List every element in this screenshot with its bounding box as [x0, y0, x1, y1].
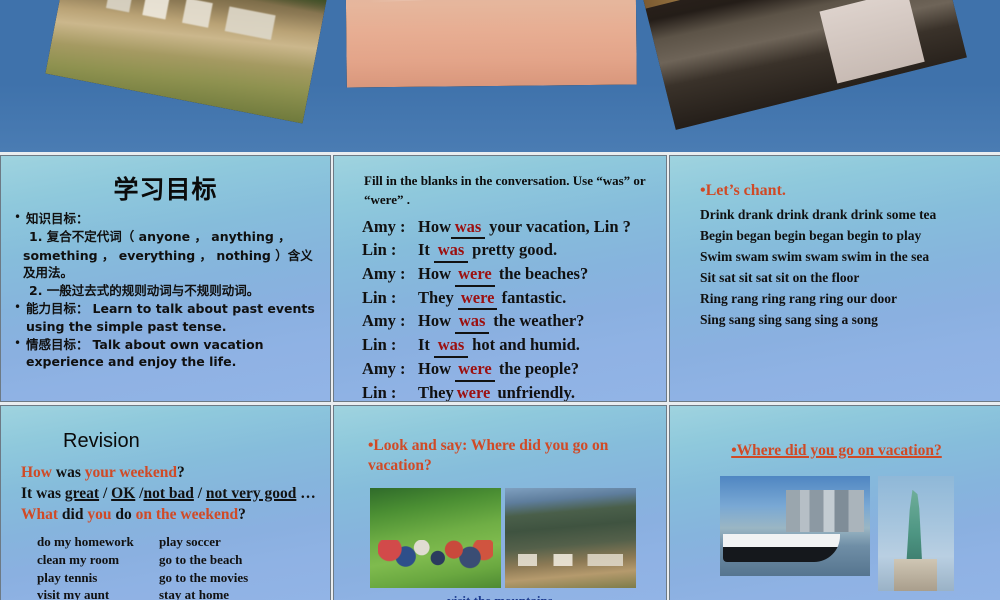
page-title: •Let’s chant.	[700, 182, 991, 200]
museum-interior-photo	[637, 0, 967, 130]
page-title: 学习目标	[13, 170, 318, 206]
chant-line: Swim swam swim swam swim in the sea	[700, 247, 991, 268]
q1-word-how: How	[21, 464, 52, 481]
speaker-label: Amy :	[362, 216, 418, 238]
conversation-list: Amy :Howwas your vacation, Lin ? Lin :It…	[362, 216, 654, 402]
answer-blank[interactable]: was	[451, 216, 485, 240]
q2-option: not bad	[143, 485, 193, 502]
activity-column-right: play soccer go to the beach go to the mo…	[159, 533, 248, 600]
slide-revision[interactable]: Revision How was your weekend? It was gr…	[0, 405, 331, 600]
page-title: •Look and say: Where did you go on vacat…	[368, 436, 654, 476]
page-title: •Where did you go on vacation?	[682, 442, 991, 460]
slide-thumbnail-sheet: 学习目标 知识目标： 1. 复合不定代词（ anyone ， anything …	[0, 0, 1000, 600]
q2-option: great	[65, 485, 99, 502]
conversation-line: Lin :They were fantastic.	[362, 287, 654, 311]
speaker-label: Lin :	[362, 287, 418, 309]
q3-word-on-the-weekend: on the weekend	[136, 506, 238, 523]
revision-prompts: How was your weekend? It was great / OK …	[21, 463, 318, 525]
list-item: go to the movies	[159, 569, 248, 587]
q3-word-do: do	[111, 506, 135, 523]
mountain-village-photo	[505, 488, 636, 588]
line-before: How	[418, 217, 451, 236]
answer-blank[interactable]: was	[455, 310, 489, 334]
chant-line: Drink drank drink drank drink some tea	[700, 205, 991, 226]
line-after: pretty good.	[472, 240, 557, 259]
chant-line: Sing sang sing sang sing a song	[700, 310, 991, 331]
speaker-label: Lin :	[362, 334, 418, 356]
instruction-text: Fill in the blanks in the conversation. …	[364, 172, 654, 210]
list-item: play tennis	[37, 569, 159, 587]
conversation-line: Amy :How were the beaches?	[362, 263, 654, 287]
line-before: It	[418, 335, 430, 354]
photo-caption: visit the mountains	[346, 593, 654, 600]
conversation-line: Lin :It was hot and humid.	[362, 334, 654, 358]
revision-question-3: What did you do on the weekend?	[21, 505, 318, 526]
q2-lead: It was	[21, 485, 65, 502]
q2-option: OK	[111, 485, 135, 502]
q3-mark: ?	[238, 506, 246, 523]
list-item: 知识目标：	[13, 210, 318, 227]
chant-lines: Drink drank drink drank drink some tea B…	[700, 205, 991, 331]
line-before: How	[418, 359, 451, 378]
slide-look-and-say[interactable]: •Look and say: Where did you go on vacat…	[333, 405, 667, 600]
list-item: play soccer	[159, 533, 248, 551]
conversation-line: Amy :How was the weather?	[362, 310, 654, 334]
slide-lets-chant[interactable]: •Let’s chant. Drink drank drink drank dr…	[669, 155, 1000, 402]
chant-line: Ring rang ring rang ring our door	[700, 289, 991, 310]
mountain-village-photo	[45, 0, 332, 124]
list-item: 2. 一般过去式的规则动词与不规则动词。	[13, 282, 318, 299]
speaker-label: Amy :	[362, 310, 418, 332]
conversation-line: Lin :Theywere unfriendly.	[362, 382, 654, 403]
list-item: go to the beach	[159, 551, 248, 569]
chant-line: Sit sat sit sat sit on the floor	[700, 268, 991, 289]
slide-fill-in-the-blanks[interactable]: Fill in the blanks in the conversation. …	[333, 155, 667, 402]
photo-pair	[370, 488, 654, 588]
beach-photo-image	[345, 0, 637, 88]
speaker-label: Amy :	[362, 263, 418, 285]
answer-blank[interactable]: was	[434, 239, 468, 263]
q1-mark: ?	[177, 464, 185, 481]
revision-question-2: It was great / OK /not bad / not very go…	[21, 484, 318, 505]
speaker-label: Amy :	[362, 358, 418, 380]
q3-word-what: What	[21, 506, 58, 523]
conversation-line: Lin :It was pretty good.	[362, 239, 654, 263]
activity-column-left: do my homework clean my room play tennis…	[37, 533, 159, 600]
green-field-photo-image	[370, 488, 501, 588]
list-item: clean my room	[37, 551, 159, 569]
banner-header	[0, 0, 1000, 152]
mountain-village-photo-image	[45, 0, 332, 124]
list-item: do my homework	[37, 533, 159, 551]
statue-of-liberty-photo	[878, 476, 954, 591]
line-after: the weather?	[493, 311, 584, 330]
line-after: the beaches?	[499, 264, 588, 283]
mountain-village-photo-image	[505, 488, 636, 588]
answer-blank[interactable]: were	[454, 382, 494, 403]
list-item: 能力目标： Learn to talk about past events us…	[13, 300, 318, 335]
line-before: How	[418, 264, 451, 283]
slide-learning-goals[interactable]: 学习目标 知识目标： 1. 复合不定代词（ anyone ， anything …	[0, 155, 331, 402]
list-item: visit my aunt	[37, 586, 159, 600]
q3-word-you: you	[87, 506, 111, 523]
list-item: 情感目标： Talk about own vacation experience…	[13, 336, 318, 371]
goal-label: 能力目标：	[26, 301, 89, 316]
line-after: hot and humid.	[472, 335, 580, 354]
line-before: It	[418, 240, 430, 259]
answer-blank[interactable]: was	[434, 334, 468, 358]
line-before: They	[418, 383, 454, 402]
list-item: something ， everything ， nothing ）含义及用法。	[13, 247, 318, 282]
chant-line: Begin began begin began begin to play	[700, 226, 991, 247]
learning-goals-list: 知识目标： 1. 复合不定代词（ anyone ， anything ， som…	[13, 210, 318, 370]
q3-word-did: did	[58, 506, 87, 523]
page-title: Revision	[63, 430, 318, 453]
revision-question-1: How was your weekend?	[21, 463, 318, 484]
q2-option: not very good	[206, 485, 296, 502]
green-field-photo	[370, 488, 501, 588]
line-after: fantastic.	[502, 288, 567, 307]
slide-grid: 学习目标 知识目标： 1. 复合不定代词（ anyone ， anything …	[0, 152, 1000, 600]
answer-blank[interactable]: were	[455, 263, 495, 287]
line-after: your vacation, Lin ?	[489, 217, 631, 236]
beach-photo	[345, 0, 637, 88]
goal-label: 情感目标：	[26, 337, 89, 352]
answer-blank[interactable]: were	[455, 358, 495, 382]
conversation-line: Amy :How were the people?	[362, 358, 654, 382]
line-after: the people?	[499, 359, 579, 378]
museum-interior-photo-image	[637, 0, 967, 130]
q1-word-was: was	[52, 464, 85, 481]
goal-label: 知识目标：	[26, 211, 89, 226]
activity-columns: do my homework clean my room play tennis…	[37, 533, 318, 600]
conversation-line: Amy :Howwas your vacation, Lin ?	[362, 216, 654, 240]
answer-blank[interactable]: were	[458, 287, 498, 311]
list-item: 1. 复合不定代词（ anyone ， anything ，	[13, 228, 318, 245]
q1-word-your-weekend: your weekend	[85, 464, 177, 481]
line-after: unfriendly.	[497, 383, 574, 402]
speaker-label: Lin :	[362, 382, 418, 403]
ship-skyline-photo	[720, 476, 870, 576]
speaker-label: Lin :	[362, 239, 418, 261]
line-before: How	[418, 311, 451, 330]
slide-where-did-you-go[interactable]: •Where did you go on vacation?	[669, 405, 1000, 600]
line-before: They	[418, 288, 454, 307]
photo-pair	[682, 476, 991, 591]
q2-tail: …	[296, 485, 315, 502]
list-item: stay at home	[159, 586, 248, 600]
